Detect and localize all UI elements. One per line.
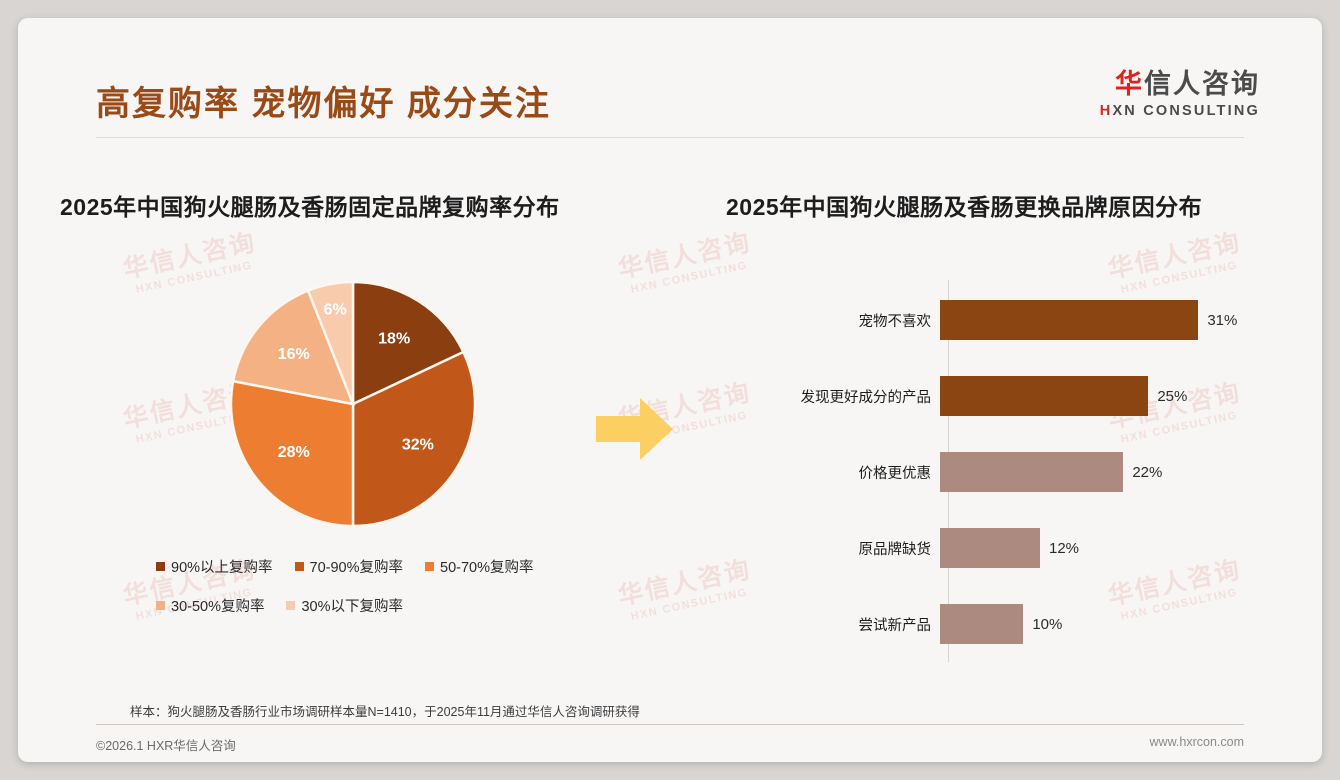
legend-item[interactable]: 30%以下复购率 (286, 595, 403, 616)
repurchase-rate-pie-chart: 18%32%28%16%6% (213, 276, 503, 536)
bar-category-label: 尝试新产品 (788, 614, 940, 635)
sample-note: 样本：狗火腿肠及香肠行业市场调研样本量N=1410，于2025年11月通过华信人… (130, 701, 640, 720)
pie-slices (231, 282, 475, 526)
bar-value-label: 31% (1207, 312, 1237, 329)
legend-swatch (156, 601, 165, 610)
bar-row[interactable]: 宠物不喜欢31% (788, 300, 1258, 340)
pie-svg: 18%32%28%16%6% (213, 276, 503, 536)
logo-cn-rest: 信人咨询 (1144, 69, 1260, 99)
copyright-text: ©2026.1 HXR华信人咨询 (96, 735, 236, 754)
legend-label: 90%以上复购率 (171, 556, 273, 577)
legend-label: 30-50%复购率 (171, 595, 264, 616)
pie-slice-label: 28% (278, 444, 310, 461)
slide-header: 高复购率 宠物偏好 成分关注 华信人咨询 HXN CONSULTING (18, 18, 1322, 136)
arrow-svg (596, 394, 674, 464)
right-chart-title: 2025年中国狗火腿肠及香肠更换品牌原因分布 (726, 188, 1202, 222)
left-chart-title: 2025年中国狗火腿肠及香肠固定品牌复购率分布 (60, 188, 560, 222)
bar-row[interactable]: 发现更好成分的产品25% (788, 376, 1258, 416)
legend-item[interactable]: 70-90%复购率 (295, 556, 403, 577)
brand-switch-reason-bar-chart: 宠物不喜欢31%发现更好成分的产品25%价格更优惠22%原品牌缺货12%尝试新产… (788, 280, 1258, 662)
slide-canvas: 华信人咨询HXN CONSULTING 华信人咨询HXN CONSULTING … (18, 18, 1322, 762)
logo-accent-char: 华 (1115, 69, 1144, 99)
right-arrow-icon (596, 394, 674, 469)
bar-category-label: 原品牌缺货 (788, 538, 940, 559)
pie-legend: 90%以上复购率70-90%复购率50-70%复购率 30-50%复购率30%以… (156, 556, 586, 634)
pie-slice-label: 16% (278, 346, 310, 363)
logo-en-accent: H (1100, 103, 1113, 119)
legend-item[interactable]: 90%以上复购率 (156, 556, 273, 577)
legend-row: 90%以上复购率70-90%复购率50-70%复购率 (156, 556, 586, 577)
pie-slice-label: 18% (378, 330, 410, 347)
pie-slice-label: 6% (324, 302, 347, 319)
watermark: 华信人咨询HXN CONSULTING (614, 549, 756, 624)
bar-row[interactable]: 尝试新产品10% (788, 604, 1258, 644)
legend-label: 50-70%复购率 (440, 556, 533, 577)
bar-category-label: 宠物不喜欢 (788, 310, 940, 331)
watermark: 华信人咨询HXN CONSULTING (614, 222, 756, 297)
bar-fill (940, 604, 1023, 644)
bar-value-label: 10% (1032, 616, 1062, 633)
bar-fill (940, 528, 1040, 568)
page-title: 高复购率 宠物偏好 成分关注 (96, 76, 551, 125)
legend-swatch (295, 562, 304, 571)
legend-swatch (286, 601, 295, 610)
pie-slice-label: 32% (402, 436, 434, 453)
legend-item[interactable]: 50-70%复购率 (425, 556, 533, 577)
bar-value-label: 25% (1157, 388, 1187, 405)
bar-category-label: 价格更优惠 (788, 462, 940, 483)
legend-label: 70-90%复购率 (310, 556, 403, 577)
bar-fill (940, 300, 1198, 340)
logo-en-rest: XN CONSULTING (1112, 103, 1260, 119)
legend-row: 30-50%复购率30%以下复购率 (156, 595, 586, 616)
legend-swatch (156, 562, 165, 571)
legend-label: 30%以下复购率 (301, 595, 403, 616)
bar-row[interactable]: 原品牌缺货12% (788, 528, 1258, 568)
footer-divider (96, 724, 1244, 725)
legend-item[interactable]: 30-50%复购率 (156, 595, 264, 616)
bar-category-label: 发现更好成分的产品 (788, 386, 940, 407)
header-divider (96, 137, 1244, 138)
legend-swatch (425, 562, 434, 571)
bar-value-label: 12% (1049, 540, 1079, 557)
company-logo: 华信人咨询 HXN CONSULTING (1100, 70, 1260, 119)
website-text: www.hxrcon.com (1150, 735, 1244, 749)
bar-row[interactable]: 价格更优惠22% (788, 452, 1258, 492)
bar-value-label: 22% (1132, 464, 1162, 481)
bar-fill (940, 376, 1148, 416)
bar-fill (940, 452, 1123, 492)
